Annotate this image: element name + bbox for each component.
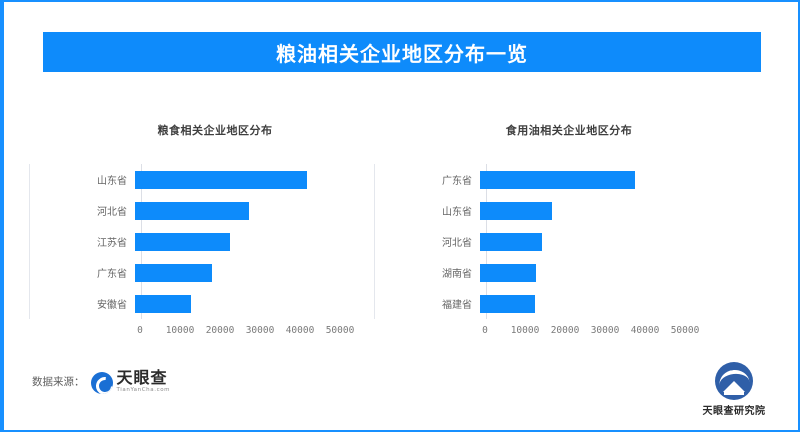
- oil-category-label: 湖南省: [375, 265, 480, 280]
- chart-grain: 粮食相关企业地区分布 山东省河北省江苏省广东省安徽省 0100002000030…: [29, 112, 399, 357]
- grain-bar-row: 广东省: [30, 257, 400, 288]
- grain-x-tick: 40000: [286, 325, 315, 336]
- oil-bar-row: 福建省: [375, 288, 745, 319]
- emblem-roof: [723, 381, 745, 392]
- chart-grain-plot: 山东省河北省江苏省广东省安徽省 010000200003000040000500…: [29, 164, 399, 349]
- institute-logo-block: 天眼查研究院: [686, 362, 782, 417]
- grain-x-tick: 0: [137, 325, 143, 336]
- chart-grain-rows: 山东省河北省江苏省广东省安徽省: [29, 164, 400, 319]
- oil-bar-track: [480, 164, 745, 195]
- infographic-page: 粮油相关企业地区分布一览 粮食相关企业地区分布 山东省河北省江苏省广东省安徽省 …: [0, 0, 800, 432]
- charts-container: 粮食相关企业地区分布 山东省河北省江苏省广东省安徽省 0100002000030…: [4, 112, 800, 357]
- tianyancha-wordmark: 天眼查 TianYanCha.com: [117, 370, 171, 394]
- grain-bar: [135, 264, 212, 282]
- oil-bar-row: 湖南省: [375, 257, 745, 288]
- grain-category-label: 安徽省: [30, 296, 135, 311]
- grain-category-label: 山东省: [30, 172, 135, 187]
- chart-grain-x-axis: 01000020000300004000050000: [140, 319, 360, 345]
- oil-bar-row: 山东省: [375, 195, 745, 226]
- grain-bar-row: 河北省: [30, 195, 400, 226]
- tianyancha-brand-name: 天眼查: [117, 370, 171, 386]
- grain-bar: [135, 202, 249, 220]
- footer: 数据来源： 天眼查 TianYanCha.com 天眼查研究院: [4, 358, 800, 430]
- chart-edible-oil-x-axis: 01000020000300004000050000: [485, 319, 705, 345]
- grain-bar: [135, 295, 191, 313]
- oil-x-tick: 40000: [631, 325, 660, 336]
- oil-bar-track: [480, 288, 745, 319]
- grain-x-tick: 10000: [166, 325, 195, 336]
- grain-bar-row: 山东省: [30, 164, 400, 195]
- grain-bar: [135, 171, 307, 189]
- tianyancha-logo: 天眼查 TianYanCha.com: [91, 370, 171, 394]
- oil-category-label: 山东省: [375, 203, 480, 218]
- grain-x-tick: 50000: [326, 325, 355, 336]
- emblem-base: [724, 392, 744, 395]
- chart-edible-oil-rows: 广东省山东省河北省湖南省福建省: [374, 164, 745, 319]
- grain-bar-track: [135, 195, 400, 226]
- grain-bar-track: [135, 257, 400, 288]
- oil-bar-track: [480, 257, 745, 288]
- oil-bar-row: 广东省: [375, 164, 745, 195]
- title-banner: 粮油相关企业地区分布一览: [43, 32, 761, 72]
- tianyancha-domain: TianYanCha.com: [117, 388, 171, 394]
- grain-bar-row: 安徽省: [30, 288, 400, 319]
- grain-x-tick: 20000: [206, 325, 235, 336]
- oil-bar-row: 河北省: [375, 226, 745, 257]
- oil-bar: [480, 233, 542, 251]
- chart-grain-title: 粮食相关企业地区分布: [29, 112, 399, 138]
- oil-x-tick: 30000: [591, 325, 620, 336]
- chart-edible-oil-title: 食用油相关企业地区分布: [374, 112, 744, 138]
- grain-bar-track: [135, 164, 400, 195]
- grain-category-label: 河北省: [30, 203, 135, 218]
- oil-x-tick: 10000: [511, 325, 540, 336]
- grain-bar-track: [135, 288, 400, 319]
- oil-bar-track: [480, 226, 745, 257]
- oil-bar-track: [480, 195, 745, 226]
- institute-name: 天眼查研究院: [703, 402, 766, 417]
- page-title: 粮油相关企业地区分布一览: [276, 38, 528, 67]
- grain-bar-track: [135, 226, 400, 257]
- oil-bar: [480, 171, 635, 189]
- grain-x-tick: 30000: [246, 325, 275, 336]
- tianyancha-eye-icon: [91, 372, 113, 394]
- institute-emblem-icon: [715, 362, 753, 400]
- data-source-block: 数据来源： 天眼查 TianYanCha.com: [32, 370, 170, 394]
- oil-x-tick: 0: [482, 325, 488, 336]
- oil-category-label: 广东省: [375, 172, 480, 187]
- grain-bar: [135, 233, 230, 251]
- oil-bar: [480, 295, 535, 313]
- grain-category-label: 江苏省: [30, 234, 135, 249]
- grain-bar-row: 江苏省: [30, 226, 400, 257]
- oil-x-tick: 20000: [551, 325, 580, 336]
- data-source-label: 数据来源：: [32, 374, 85, 389]
- chart-edible-oil-plot: 广东省山东省河北省湖南省福建省 010000200003000040000500…: [374, 164, 744, 349]
- chart-edible-oil: 食用油相关企业地区分布 广东省山东省河北省湖南省福建省 010000200003…: [374, 112, 744, 357]
- oil-bar: [480, 264, 536, 282]
- oil-category-label: 河北省: [375, 234, 480, 249]
- oil-bar: [480, 202, 552, 220]
- oil-x-tick: 50000: [671, 325, 700, 336]
- grain-category-label: 广东省: [30, 265, 135, 280]
- oil-category-label: 福建省: [375, 296, 480, 311]
